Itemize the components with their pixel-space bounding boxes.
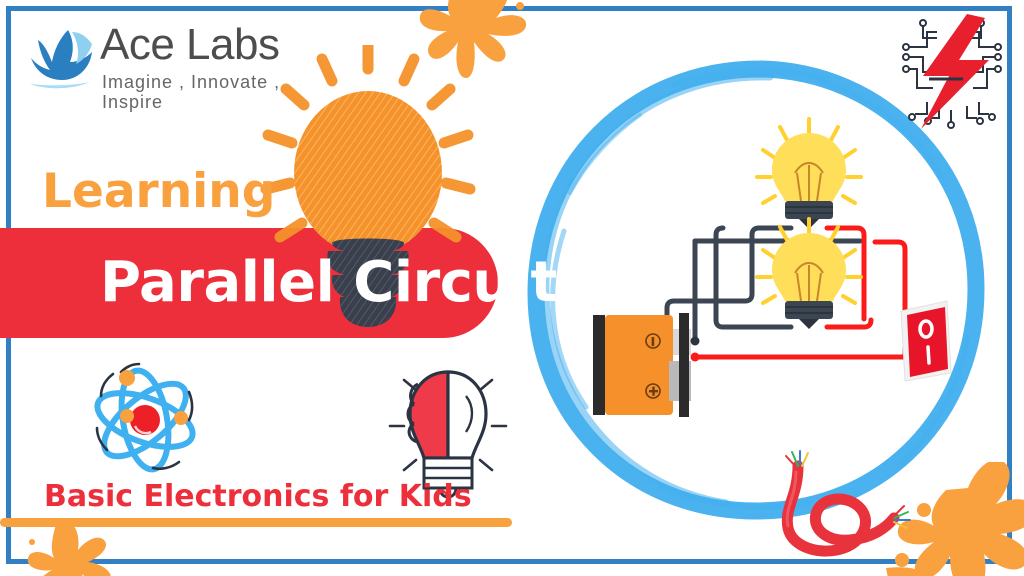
battery [593, 313, 700, 417]
lamp-bottom [757, 219, 861, 329]
bird-icon [28, 28, 96, 90]
page-title: Parallel Circuit [100, 245, 557, 321]
lamp-top [757, 119, 861, 229]
battery-negative-label [652, 337, 655, 346]
accent-rule [0, 518, 512, 527]
poster-canvas: Ace Labs Imagine , Innovate , Inspire [0, 0, 1024, 576]
switch-on-symbol [928, 347, 929, 363]
paint-splatter-icon-bottom-left [8, 520, 138, 576]
coiled-cable-icon [768, 448, 928, 563]
eyebrow-text: Learning [42, 165, 275, 219]
subtitle-text: Basic Electronics for Kids [44, 478, 472, 516]
lightning-circuit-icon [893, 14, 1011, 129]
rocker-switch [901, 301, 951, 381]
parallel-circuit-diagram [575, 115, 975, 445]
atom-icon [83, 358, 208, 483]
